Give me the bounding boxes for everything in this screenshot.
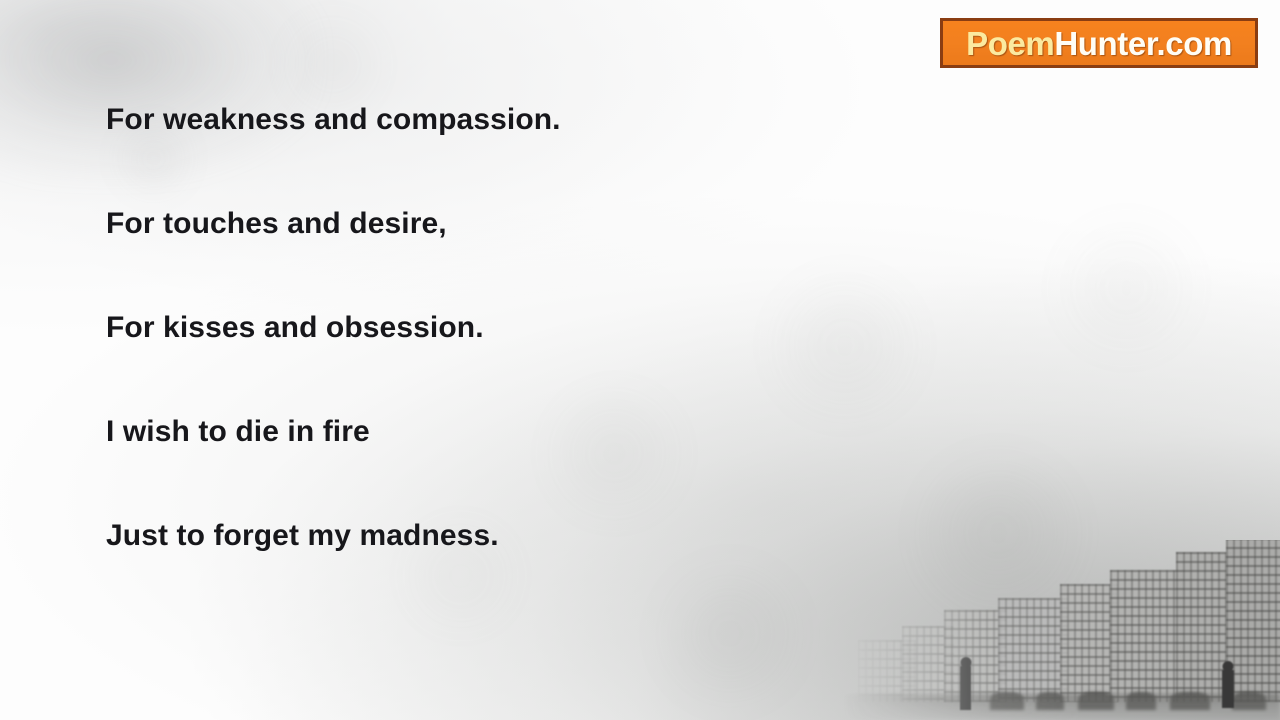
person-head-right [1223, 661, 1234, 672]
apartment-block-3 [944, 610, 1006, 702]
person-silhouette-right [1222, 670, 1234, 708]
poem-line-2: For touches and desire, [106, 202, 1006, 306]
poem-line-1: For weakness and compassion. [106, 98, 1006, 202]
poemhunter-logo-text: PoemHunter.com [966, 27, 1232, 60]
video-frame: For weakness and compassion. For touches… [0, 0, 1280, 720]
poem-line-3: For kisses and obsession. [106, 306, 1006, 410]
poem-line-5: Just to forget my madness. [106, 514, 1006, 618]
poem-text-block: For weakness and compassion. For touches… [106, 98, 1006, 618]
person-head-left [960, 657, 971, 668]
poem-line-4: I wish to die in fire [106, 410, 1006, 514]
apartment-block-8 [1226, 540, 1280, 702]
logo-text-hunter: Hunter.com [1054, 25, 1232, 62]
apartment-block-4 [998, 598, 1068, 702]
cityscape-ground [840, 694, 1280, 720]
person-silhouette-left [960, 666, 971, 710]
apartment-block-6 [1110, 570, 1184, 702]
poemhunter-logo[interactable]: PoemHunter.com [940, 18, 1258, 68]
logo-text-poem: Poem [966, 25, 1054, 62]
